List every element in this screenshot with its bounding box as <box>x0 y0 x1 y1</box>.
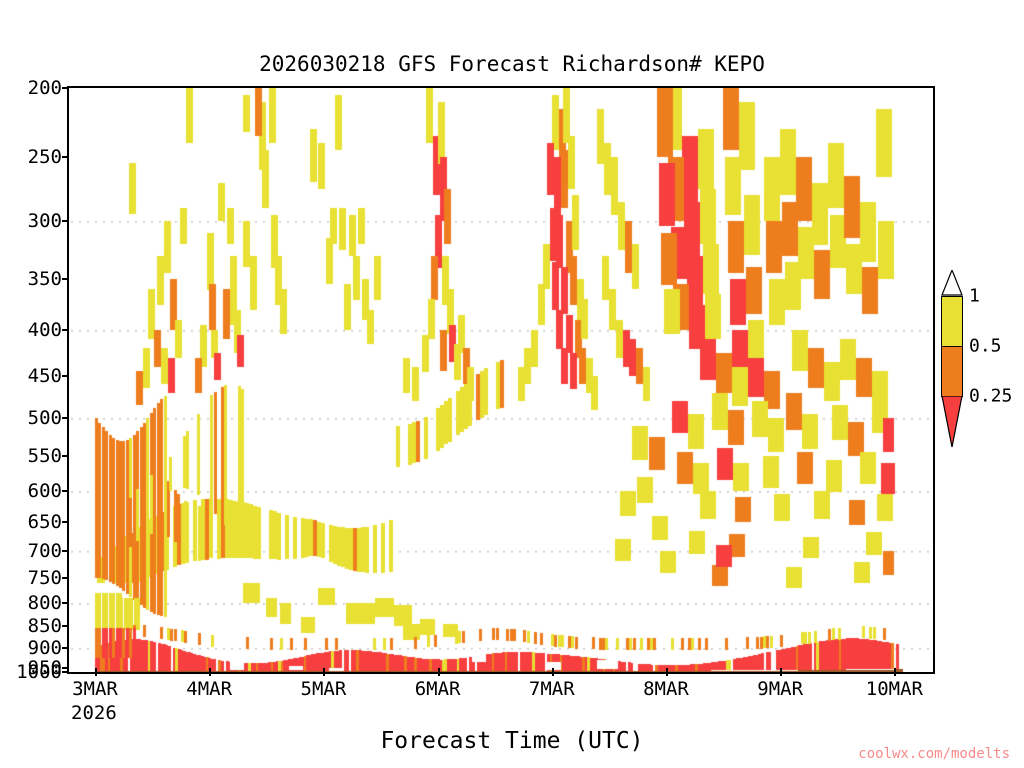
y-axis-tick-mark <box>62 625 69 627</box>
x-axis-tick-mark <box>894 668 896 676</box>
y-axis-tick-mark <box>62 278 69 280</box>
y-axis-tick-mark <box>62 647 69 649</box>
y-axis-tick-mark <box>62 577 69 579</box>
x-axis-tick-mark <box>666 668 668 676</box>
x-axis-year-label: 2026 <box>71 702 117 724</box>
x-axis-tick-label: 9MAR <box>757 678 803 700</box>
y-axis-tick-mark <box>62 329 69 331</box>
chart-plot-area <box>69 88 933 672</box>
x-axis-tick-mark <box>552 668 554 676</box>
x-axis-tick-label: 7MAR <box>529 678 575 700</box>
x-axis-tick-mark <box>438 668 440 676</box>
y-axis-tick-mark <box>62 455 69 457</box>
x-axis-tick-mark <box>95 668 97 676</box>
colorbar-tick-label: 1 <box>969 286 980 307</box>
colorbar-tick-label: 0.5 <box>969 336 1002 357</box>
heatmap-cells <box>69 88 933 672</box>
watermark: coolwx.com/modelts <box>858 746 1010 762</box>
y-axis-tick-mark <box>62 417 69 419</box>
page-title: 2026030218 GFS Forecast Richardson# KEPO <box>0 52 1024 76</box>
colorbar-tick-label: 0.25 <box>969 386 1012 407</box>
x-axis-tick-mark <box>780 668 782 676</box>
y-axis-tick-mark <box>62 671 69 673</box>
y-axis-tick-mark <box>62 521 69 523</box>
x-axis-tick-mark <box>323 668 325 676</box>
x-axis-tick-mark <box>209 668 211 676</box>
y-axis-tick-mark <box>62 87 69 89</box>
y-axis-tick-mark <box>62 220 69 222</box>
y-axis-tick-mark <box>62 550 69 552</box>
x-axis-tick-label: 3MAR <box>72 678 118 700</box>
colorbar-labels: 10.50.25 <box>941 296 1024 448</box>
colorbar-arrow-top <box>941 270 963 296</box>
x-axis-tick-label: 4MAR <box>186 678 232 700</box>
x-axis-labels: 3MAR4MAR5MAR6MAR7MAR8MAR9MAR10MAR2026 <box>69 676 933 736</box>
y-axis-tick-mark <box>62 156 69 158</box>
x-axis-tick-label: 6MAR <box>415 678 461 700</box>
y-axis-tick-mark <box>62 375 69 377</box>
y-axis-tick-mark <box>62 490 69 492</box>
heatmap-canvas <box>69 88 933 672</box>
y-axis-tick-mark <box>62 667 69 669</box>
x-axis-tick-label: 5MAR <box>301 678 347 700</box>
x-axis-tick-label: 8MAR <box>643 678 689 700</box>
y-axis-tick-mark <box>62 602 69 604</box>
y-axis-ticks <box>0 88 69 672</box>
x-axis-tick-label: 10MAR <box>866 678 923 700</box>
